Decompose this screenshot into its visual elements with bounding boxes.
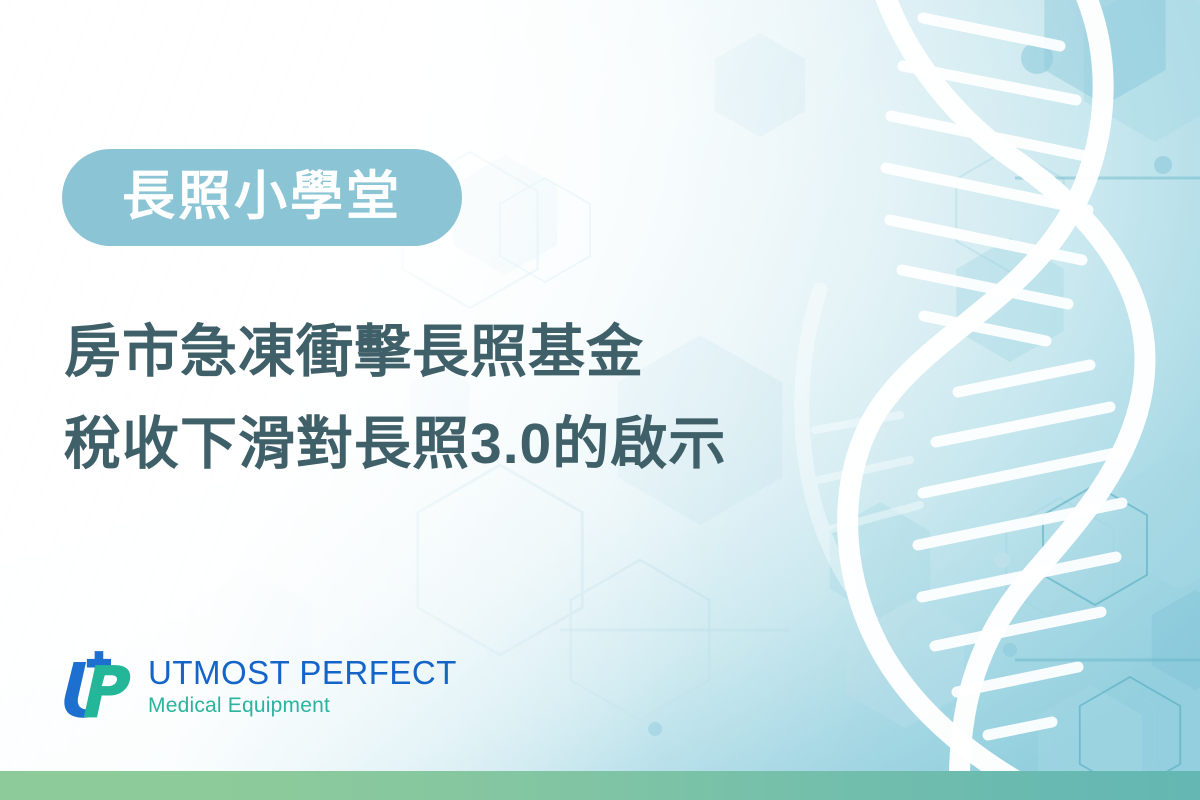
headline: 房市急凍衝擊長照基金 稅收下滑對長照3.0的啟示 bbox=[64, 306, 884, 490]
promo-banner: 長照小學堂 房市急凍衝擊長照基金 稅收下滑對長照3.0的啟示 UTMOST PE… bbox=[0, 0, 1200, 800]
bottom-accent-bar bbox=[0, 771, 1200, 800]
brand-logo[interactable]: UTMOST PERFECT Medical Equipment bbox=[58, 648, 457, 722]
headline-line-2: 稅收下滑對長照3.0的啟示 bbox=[64, 398, 884, 490]
headline-line-1: 房市急凍衝擊長照基金 bbox=[64, 306, 884, 398]
category-badge-label: 長照小學堂 bbox=[122, 170, 402, 226]
brand-tagline: Medical Equipment bbox=[148, 692, 457, 720]
brand-name: UTMOST PERFECT bbox=[148, 656, 457, 691]
category-badge[interactable]: 長照小學堂 bbox=[62, 149, 462, 246]
up-cross-logo-icon bbox=[58, 648, 136, 722]
